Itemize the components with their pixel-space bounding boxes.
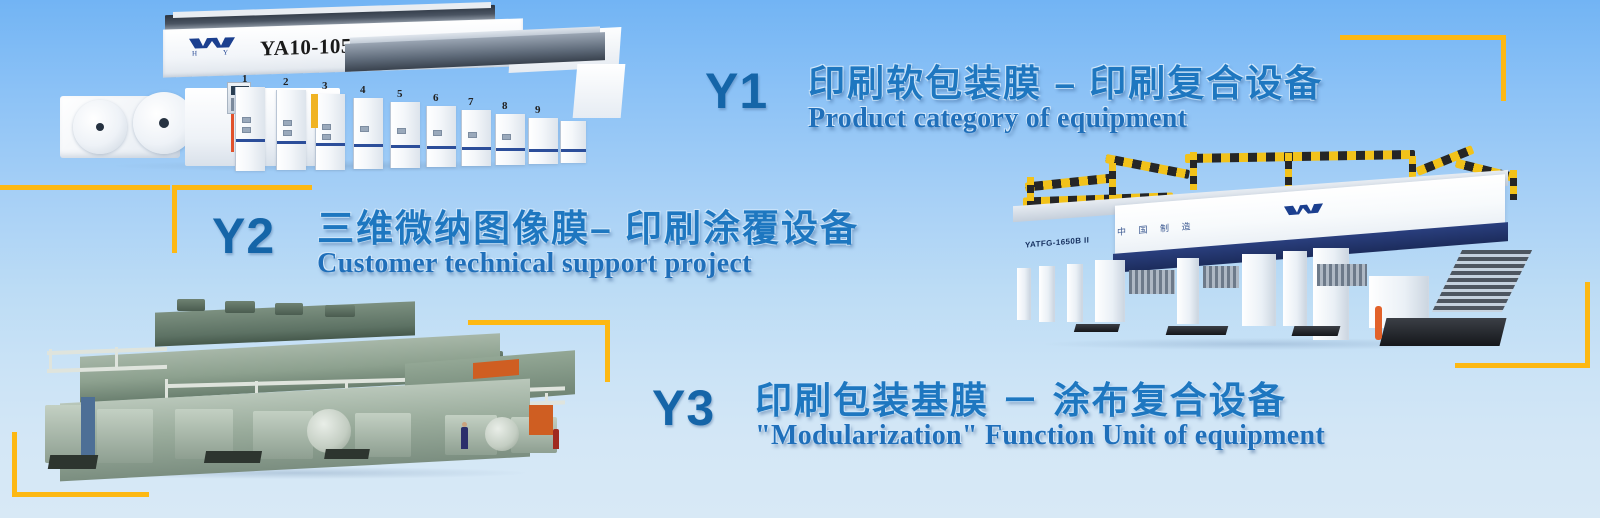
machine1-unit-pad — [397, 128, 406, 134]
machine3-motor — [275, 303, 303, 315]
machine1-brand-logo-icon: H Y — [183, 33, 239, 57]
machine1-unit-pad — [242, 127, 251, 133]
machine2-safety-rail — [1185, 150, 1415, 163]
entry-y1-text: 印刷软包装膜 – 印刷复合设备 Product category of equi… — [808, 63, 1323, 135]
machine1-unit-band — [236, 139, 265, 142]
machine1-unit-band — [354, 144, 383, 147]
machine2-column — [1177, 258, 1199, 324]
machine3-motor — [177, 299, 205, 311]
machine1-printing-units: 1 2 3 4 5 — [235, 63, 625, 168]
machine3-unit — [97, 409, 153, 463]
entry-y1-title-en: Product category of equipment — [808, 104, 1323, 135]
machine1-reel-left — [73, 100, 127, 154]
machine1-unit-pad — [360, 126, 369, 132]
bracket-bottomleft-horizontal — [12, 492, 149, 497]
bracket-y2-horizontal — [172, 185, 312, 190]
machine1-unit-number: 8 — [502, 100, 508, 112]
machine2-stairs — [1432, 250, 1532, 312]
machine3-reel — [307, 409, 351, 453]
machine2-column — [1039, 266, 1055, 322]
bracket-left-stub — [0, 185, 170, 190]
machine1-unit-band — [529, 149, 558, 152]
machine2-brand-logo-icon — [1280, 200, 1326, 222]
entry-y3-title-en: "Modularization" Function Unit of equipm… — [755, 421, 1325, 452]
machine2-base-frame — [1380, 318, 1507, 346]
machine1-unit-band — [496, 148, 525, 151]
machine1-unit-number: 4 — [360, 84, 366, 96]
machine-image-paper-coating-line — [25, 305, 575, 485]
machine1-unit-number: 5 — [397, 88, 403, 100]
bracket-y2-vertical — [172, 185, 177, 253]
machine1-web-guide — [231, 112, 234, 152]
bracket-topright-horizontal — [1340, 35, 1506, 40]
machine3-rail-post — [115, 347, 118, 367]
entry-y3-title-cn: 印刷包装基膜 － 涂布复合设备 — [755, 380, 1325, 421]
machine1-unit-pad — [283, 120, 292, 126]
entry-y2: Y2 三维微纳图像膜– 印刷涂覆设备 Customer technical su… — [212, 211, 859, 280]
machine2-rail-post — [1190, 152, 1197, 190]
machine2-base-frame — [1292, 326, 1341, 336]
svg-text:H: H — [192, 49, 197, 56]
entry-y1-marker: Y1 — [705, 66, 768, 116]
machine1-yellow-indicator — [311, 94, 318, 128]
machine2-column — [1242, 254, 1276, 326]
machine2-roller-bank — [1203, 266, 1239, 288]
machine1-unit-number: 3 — [322, 80, 328, 92]
bracket-right-horizontal — [1455, 363, 1590, 368]
machine-image-coating-laminating-line: YATFG-1650B II 中 国 制 造 — [985, 150, 1520, 355]
bracket-bottomleft-vertical — [12, 432, 17, 497]
machine3-operator — [553, 429, 559, 449]
entry-y2-title-cn: 三维微纳图像膜– 印刷涂覆设备 — [317, 208, 859, 249]
entry-y3-marker: Y3 — [652, 383, 715, 433]
machine1-unit-band — [427, 146, 456, 149]
machine1-unit-pad — [242, 117, 251, 123]
entry-y3-text: 印刷包装基膜 － 涂布复合设备 "Modularization" Functio… — [755, 380, 1325, 452]
machine1-unit-pad — [322, 134, 331, 140]
entry-y3: Y3 印刷包装基膜 － 涂布复合设备 "Modularization" Func… — [652, 383, 1325, 452]
machine2-rail-post — [1510, 170, 1517, 200]
machine1-unit-band — [561, 149, 586, 152]
bracket-right-vertical — [1585, 282, 1590, 367]
machine1-unit-number: 6 — [433, 92, 439, 104]
machine2-base-frame — [1074, 324, 1120, 332]
machine1-unit: 3 — [315, 94, 345, 170]
machine1-unit-pad — [468, 132, 477, 138]
bracket-topright-vertical — [1501, 35, 1506, 101]
entry-y1: Y1 印刷软包装膜 – 印刷复合设备 Product category of e… — [705, 66, 1323, 135]
machine2-hose — [1375, 306, 1382, 340]
machine3-motor — [325, 305, 355, 317]
machine1-unit: 1 — [235, 87, 265, 171]
machine1-unit-band — [277, 141, 306, 144]
machine3-rail-post — [49, 349, 52, 369]
machine1-unit: 9 — [528, 118, 558, 164]
entry-y2-marker: Y2 — [212, 211, 275, 261]
machine2-rail-post — [1109, 163, 1116, 203]
machine3-base-dark — [324, 449, 370, 459]
machine1-unit: 6 — [426, 106, 456, 167]
machine1-unit-band — [391, 145, 420, 148]
machine2-column — [1067, 264, 1083, 322]
machine1-unit-band — [462, 147, 491, 150]
machine1-unit: 4 — [353, 98, 383, 169]
entry-y2-text: 三维微纳图像膜– 印刷涂覆设备 Customer technical suppo… — [317, 208, 859, 280]
machine2-base-frame — [1166, 326, 1229, 335]
machine3-base-dark — [204, 451, 262, 463]
machine3-orange-part — [529, 405, 553, 435]
machine-image-rotogravure-press: H Y YA10-1050CIIW 1 2 — [55, 8, 600, 183]
machine1-unit-pad — [502, 134, 511, 140]
machine2-column — [1283, 251, 1307, 326]
machine1-unit-number: 2 — [283, 76, 289, 88]
machine3-reel — [485, 417, 519, 451]
machine1-unit-number: 9 — [535, 104, 541, 116]
machine3-motor — [225, 301, 255, 313]
machine1-unit-number: 1 — [242, 73, 248, 85]
machine1-unit: 8 — [495, 114, 525, 165]
machine2-roller-bank — [1129, 270, 1175, 294]
machine3-rail-post — [165, 379, 168, 399]
machine1-unit-band — [316, 143, 345, 146]
machine3-base-dark — [48, 455, 98, 469]
machine1-unit: 5 — [390, 102, 420, 168]
machine1-unit: 2 — [276, 90, 306, 170]
machine3-operator — [461, 427, 468, 449]
machine1-unit-number: 7 — [468, 96, 474, 108]
machine1-unit-pad — [433, 130, 442, 136]
machine2-column — [1017, 268, 1031, 320]
machine2-frame-columns — [1017, 246, 1487, 342]
entry-y1-title-cn: 印刷软包装膜 – 印刷复合设备 — [808, 63, 1323, 104]
machine1-unit-pad — [283, 130, 292, 136]
machine1-unit — [560, 121, 586, 163]
entry-y2-title-en: Customer technical support project — [317, 249, 859, 280]
machine1-unit-pad — [322, 124, 331, 130]
machine1-unit: 7 — [461, 110, 491, 166]
machine3-unit — [253, 411, 313, 459]
machine2-roller-bank — [1317, 264, 1367, 286]
svg-text:Y: Y — [223, 48, 228, 56]
machine2-safety-rail — [1105, 154, 1190, 179]
bracket-mid-vertical — [605, 320, 610, 382]
promo-banner: H Y YA10-1050CIIW 1 2 — [0, 0, 1600, 518]
machine2-column — [1095, 260, 1125, 322]
machine2-safety-rail — [1025, 173, 1115, 191]
